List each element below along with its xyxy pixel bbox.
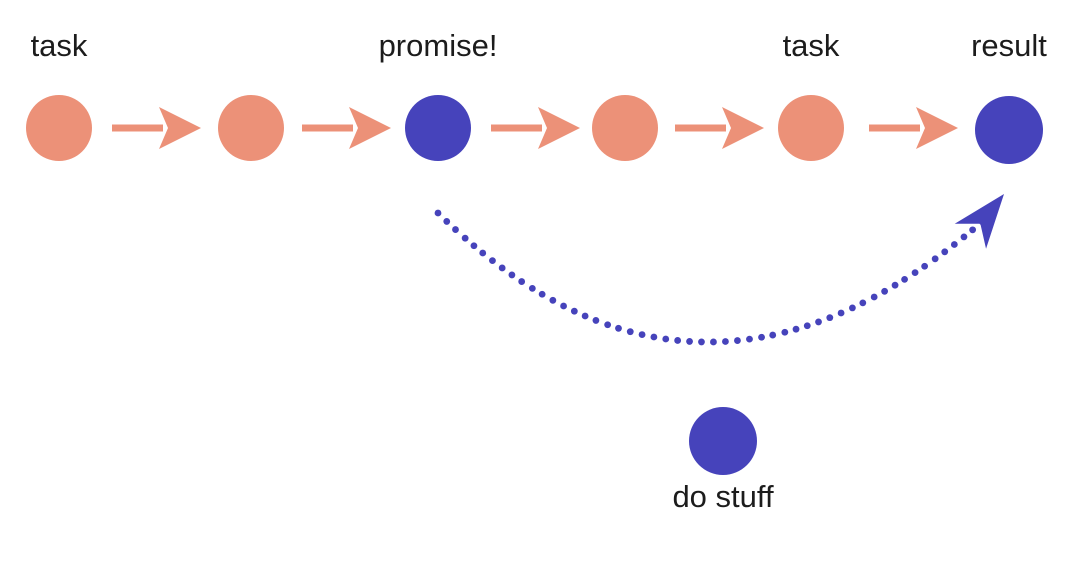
arrow-shaft [112, 125, 163, 132]
node-label-task: task [31, 30, 88, 61]
side-task-label: do stuff [672, 481, 773, 512]
arrow-5 [869, 107, 958, 149]
dotted-arrow-dot [560, 303, 567, 310]
dotted-arrow-dot [892, 282, 899, 289]
arrow-4 [675, 107, 764, 149]
dotted-arrow-dot [443, 218, 450, 225]
arrow-2 [302, 107, 391, 149]
dotted-arrow-dot [571, 308, 578, 315]
dotted-arrow-dot [932, 255, 939, 262]
dotted-arrow-dot [849, 305, 856, 312]
arrow-head [538, 107, 580, 149]
dotted-arrow-dot [881, 288, 888, 295]
dotted-arrow-dot [826, 314, 833, 321]
dotted-arrow-dot [639, 331, 646, 338]
arrow-3 [491, 107, 580, 149]
chain-node-task[interactable] [26, 95, 92, 161]
dotted-arrow-dot [710, 339, 717, 346]
dotted-arrow-dot [804, 322, 811, 329]
dotted-arrow-dot [604, 321, 611, 328]
dotted-arrow-dot [758, 334, 765, 341]
dotted-arrow-dot [941, 248, 948, 255]
dotted-arrow-head [955, 194, 1004, 249]
dotted-arrow-dot [462, 235, 469, 242]
dotted-arrow-dot [529, 285, 536, 292]
dotted-arrow-dot [627, 328, 634, 335]
dotted-arrow-dot [509, 272, 516, 279]
arrow-shaft [491, 125, 542, 132]
dotted-arrow-dot [435, 210, 442, 217]
dotted-arrow-dot [479, 250, 486, 257]
dotted-arrow-dot [734, 337, 741, 344]
dotted-arrow-dot [615, 325, 622, 332]
arrow-head [916, 107, 958, 149]
arrow-head [159, 107, 201, 149]
arrow-shaft [302, 125, 353, 132]
dotted-arrow-dot [912, 269, 919, 276]
arrow-shaft [869, 125, 920, 132]
dotted-arrow-dot [969, 226, 976, 233]
dotted-arrow-dot [871, 294, 878, 301]
chain-node-task[interactable] [778, 95, 844, 161]
dotted-arrow-dot [961, 234, 968, 241]
dotted-arrow-dot [722, 338, 729, 345]
dotted-arrow-dot [815, 319, 822, 326]
arrow-head [349, 107, 391, 149]
side-task-node[interactable] [689, 407, 757, 475]
node-label-promise: promise! [379, 30, 498, 61]
dotted-arrow-dot [859, 299, 866, 306]
dotted-arrow-dot [781, 329, 788, 336]
node-label-result: result [971, 30, 1047, 61]
dotted-arrow-dot [793, 326, 800, 333]
diagram-svg [0, 0, 1080, 562]
dotted-callback-arrow [435, 210, 986, 346]
dotted-arrow-dot [901, 276, 908, 283]
diagram-canvas: taskpromise!taskresultdo stuff [0, 0, 1080, 562]
dotted-arrow-dot [651, 334, 658, 341]
dotted-arrow-dot [452, 226, 459, 233]
chain-node-promise[interactable] [405, 95, 471, 161]
dotted-arrow-dot [951, 241, 958, 248]
dotted-arrow-dot [674, 337, 681, 344]
dotted-arrow-dot [549, 297, 556, 304]
arrow-head [722, 107, 764, 149]
dotted-arrow-dot [769, 332, 776, 339]
dotted-arrow-dot [471, 242, 478, 249]
dotted-arrow-dot [921, 263, 928, 270]
dotted-arrow-dot [686, 338, 693, 345]
dotted-arrow-dot [539, 291, 546, 298]
node-label-task: task [783, 30, 840, 61]
arrow-shaft [675, 125, 726, 132]
dotted-arrow-dot [593, 317, 600, 324]
dotted-arrow-dot [838, 310, 845, 317]
dotted-arrow-dot [698, 339, 705, 346]
chain-node-promise[interactable] [975, 96, 1043, 164]
dotted-arrow-dot [662, 336, 669, 343]
chain-node-task[interactable] [218, 95, 284, 161]
dotted-arrow-dot [499, 265, 506, 272]
arrow-1 [112, 107, 201, 149]
dotted-arrow-dot [489, 257, 496, 264]
dotted-arrow-dot [746, 336, 753, 343]
dotted-arrow-dot [582, 313, 589, 320]
dotted-arrow-dot [518, 278, 525, 285]
chain-node-task[interactable] [592, 95, 658, 161]
